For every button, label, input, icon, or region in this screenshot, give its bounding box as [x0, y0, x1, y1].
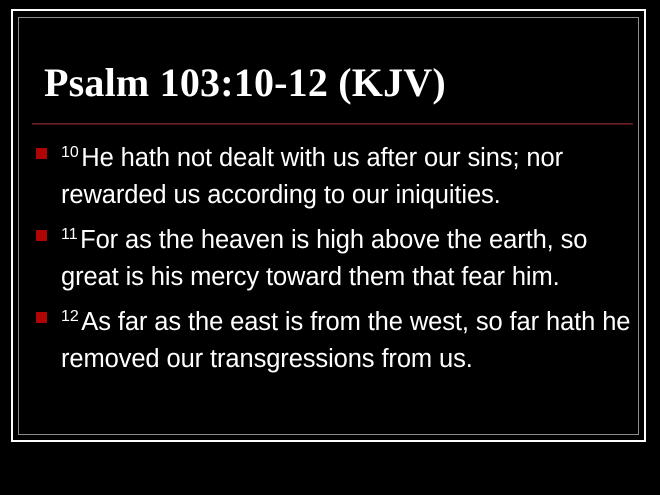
scripture-slide: Psalm 103:10-12 (KJV) 10He hath not deal…: [0, 0, 660, 495]
verse-text: As far as the east is from the west, so …: [61, 308, 630, 373]
list-item: 10He hath not dealt with us after our si…: [33, 134, 633, 214]
list-item: 11For as the heaven is high above the ea…: [33, 216, 633, 296]
square-bullet-icon: [36, 230, 47, 241]
list-item: 12As far as the east is from the west, s…: [33, 298, 633, 378]
verse-text: For as the heaven is high above the eart…: [61, 226, 587, 291]
verse-text: He hath not dealt with us after our sins…: [61, 144, 563, 209]
slide-title: Psalm 103:10-12 (KJV): [44, 61, 624, 105]
verse-number: 10: [61, 144, 81, 161]
square-bullet-icon: [36, 312, 47, 323]
square-bullet-icon: [36, 148, 47, 159]
verse-list: 10He hath not dealt with us after our si…: [33, 134, 633, 380]
verse-number: 12: [61, 308, 81, 325]
title-divider: [32, 123, 633, 125]
verse-number: 11: [61, 226, 80, 243]
